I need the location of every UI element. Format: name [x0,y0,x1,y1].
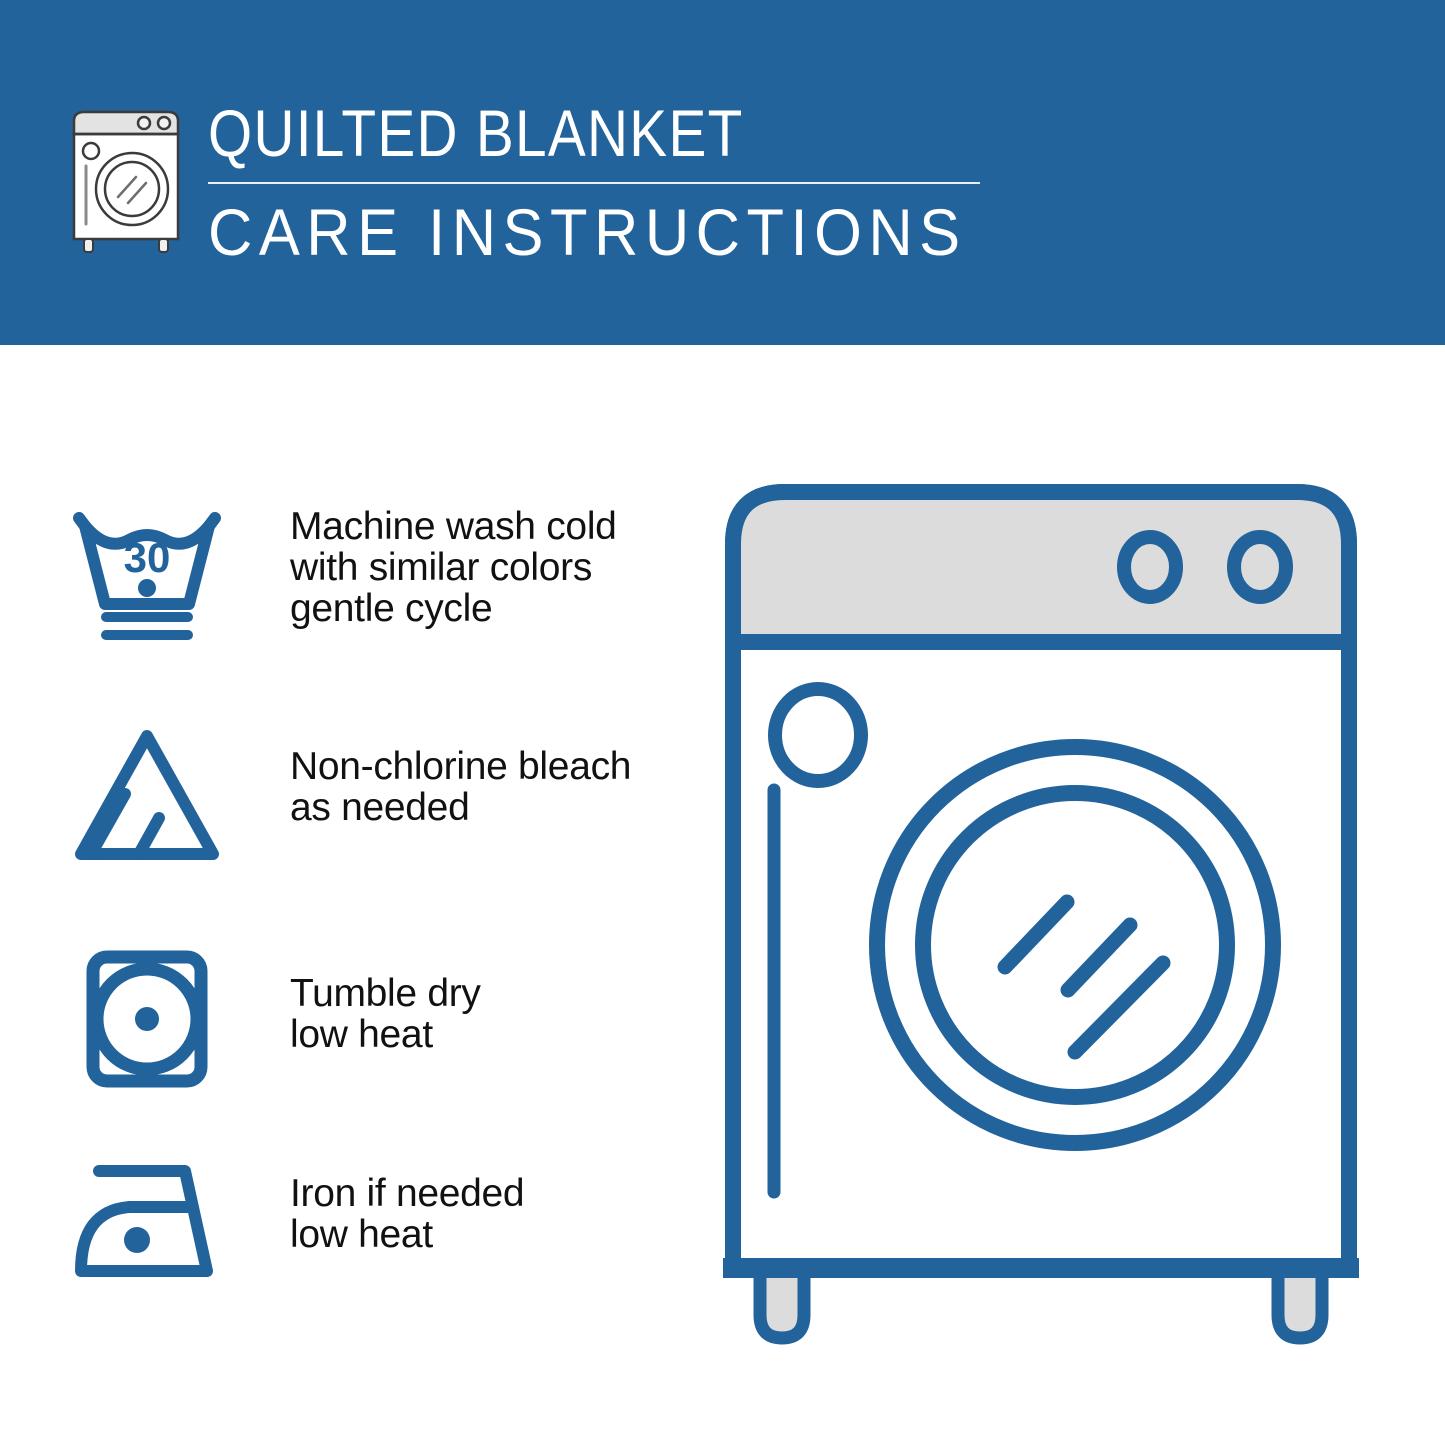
washing-machine-icon [66,104,186,254]
instruction-line: as needed [290,787,631,828]
wash-temperature-label: 30 [124,534,171,581]
page-title: QUILTED BLANKET [208,96,913,170]
wash-tub-30-icon: 30 [62,500,232,650]
header-banner: QUILTED BLANKET CARE INSTRUCTIONS [0,0,1445,345]
instruction-label-bleach: Non-chlorine bleach as needed [290,720,631,828]
instruction-line: Tumble dry [290,973,481,1014]
iron-low-heat-icon [62,1145,232,1295]
instruction-line: low heat [290,1214,524,1255]
instruction-line: Iron if needed [290,1173,524,1214]
instruction-item-iron: Iron if needed low heat [0,1145,700,1295]
header-text-block: QUILTED BLANKET CARE INSTRUCTIONS [208,96,1028,270]
instruction-line: Machine wash cold [290,506,617,547]
title-divider [208,182,980,184]
instruction-label-machine-wash: Machine wash cold with similar colors ge… [290,500,617,629]
instruction-label-tumble-dry: Tumble dry low heat [290,945,481,1055]
instruction-line: with similar colors [290,547,617,588]
instruction-label-iron: Iron if needed low heat [290,1145,524,1255]
instruction-item-bleach: Non-chlorine bleach as needed [0,720,700,870]
instruction-list: 30 Machine wash cold with similar colors… [0,345,700,1445]
instruction-line: low heat [290,1014,481,1055]
instruction-line: gentle cycle [290,588,617,629]
tumble-dry-low-icon [62,945,232,1095]
instruction-line: Non-chlorine bleach [290,746,631,787]
page-subtitle: CARE INSTRUCTIONS [208,194,971,270]
care-instructions-page: QUILTED BLANKET CARE INSTRUCTIONS 30 [0,0,1445,1445]
instruction-item-tumble-dry: Tumble dry low heat [0,945,700,1095]
instruction-item-machine-wash: 30 Machine wash cold with similar colors… [0,500,700,650]
non-chlorine-bleach-triangle-icon [62,720,232,870]
front-load-washing-machine-illustration [715,470,1395,1370]
